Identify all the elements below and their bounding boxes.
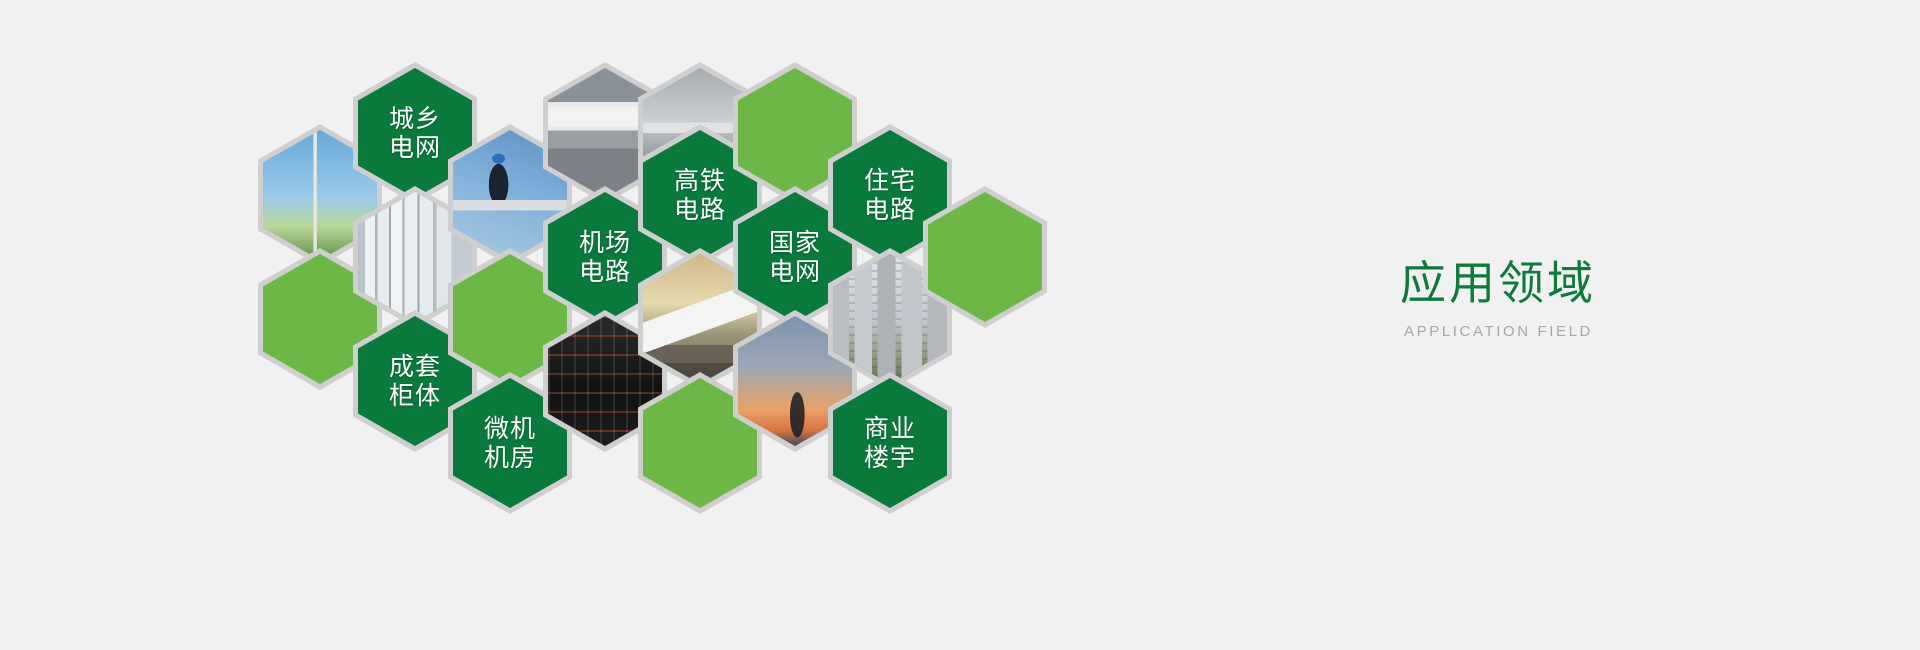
- hex-label-urban-rural-grid: 城乡 电网: [389, 104, 441, 163]
- heading-block: 应用领域 APPLICATION FIELD: [1400, 258, 1820, 340]
- hex-label-high-speed-rail: 高铁 电路: [674, 166, 726, 225]
- page-subtitle: APPLICATION FIELD: [1404, 323, 1820, 340]
- hex-label-state-grid: 国家 电网: [769, 228, 821, 287]
- page-title: 应用领域: [1400, 258, 1820, 309]
- application-field-banner: 城乡 电网 成套 柜体 微机 机房 机场 电路: [0, 0, 1920, 650]
- hex-label-airport-circuit: 机场 电路: [579, 228, 631, 287]
- hex-label-complete-cabinet: 成套 柜体: [389, 352, 441, 411]
- hex-label-residential-circuit: 住宅 电路: [864, 166, 916, 225]
- hex-label-computer-room: 微机 机房: [484, 414, 536, 473]
- hex-label-commercial-building: 商业 楼宇: [864, 414, 916, 473]
